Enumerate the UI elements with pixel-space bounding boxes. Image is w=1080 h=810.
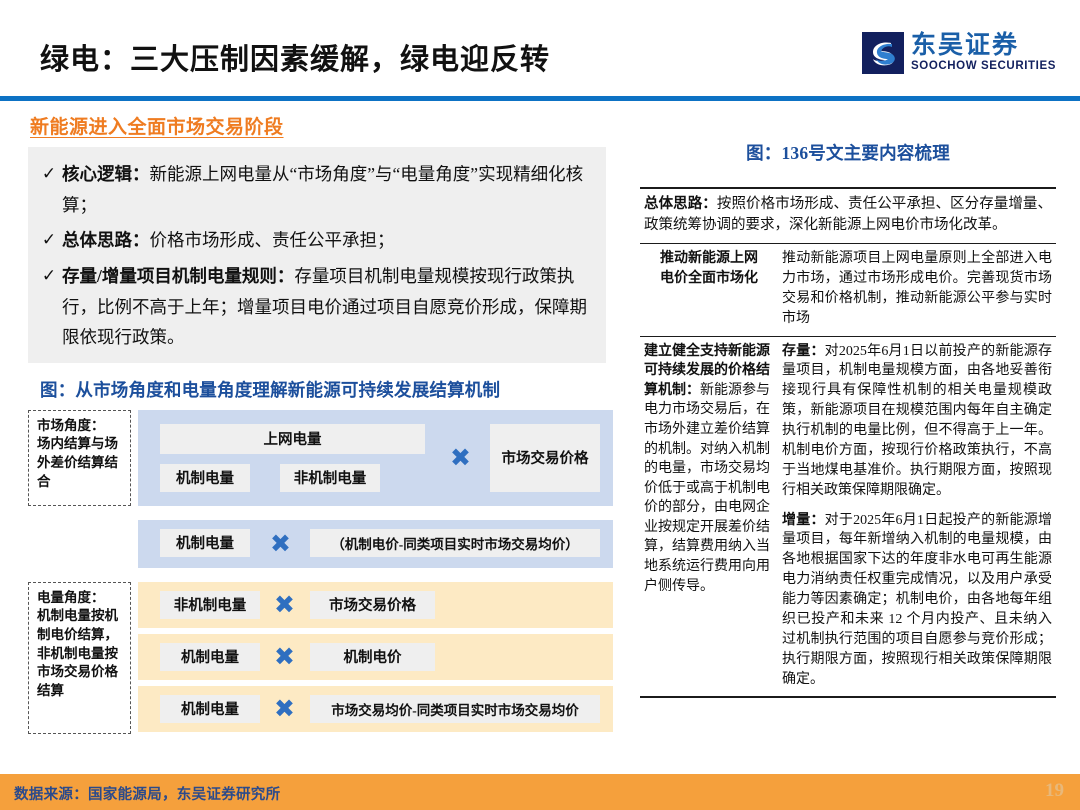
key-points-box: ✓ 核心逻辑：新能源上网电量从“市场角度”与“电量角度”实现精细化核算； ✓ 总…: [28, 147, 606, 363]
row-label-settlement-rest: 新能源参与电力市场交易后，在市场外建立差价结算的机制。对纳入机制的电量，市场交易…: [644, 383, 770, 594]
right-column: 图：136号文主要内容梳理 总体思路：按照价格市场形成、责任公平承担、区分存量增…: [640, 140, 1056, 698]
header-divider: [0, 96, 1080, 101]
stock-label: 存量：: [782, 344, 825, 359]
policy-summary-table: 总体思路：按照价格市场形成、责任公平承担、区分存量增量、政策统筹协调的要求，深化…: [640, 187, 1056, 698]
multiply-icon: ✖: [274, 592, 295, 617]
row-body-settlement: 存量：对2025年6月1日以前投产的新能源存量项目，机制电量规模方面，由各地妥善…: [778, 336, 1056, 697]
chip-price-difference-formula: （机制电价-同类项目实时市场交易均价）: [310, 529, 600, 557]
chip-mechanism-power: 机制电量: [160, 643, 260, 671]
paragraph-stock: 存量：对2025年6月1日以前投产的新能源存量项目，机制电量规模方面，由各地妥善…: [782, 342, 1052, 501]
multiply-icon: ✖: [450, 445, 471, 470]
chip-market-avg-price-formula: 市场交易均价-同类项目实时市场交易均价: [310, 695, 600, 723]
diagram-panel-volume-1: 非机制电量 ✖ 市场交易价格: [138, 582, 613, 628]
logo-text: 东吴证券 SOOCHOW SECURITIES: [911, 32, 1056, 74]
diagram-panel-volume-2: 机制电量 ✖ 机制电价: [138, 634, 613, 680]
check-icon: ✓: [36, 159, 62, 189]
market-angle-note-body: 场内结算与场外差价结算结合: [37, 436, 118, 488]
chip-market-trade-price: 市场交易价格: [310, 591, 435, 619]
overall-approach-label: 总体思路：: [644, 196, 717, 212]
increment-label: 增量：: [782, 513, 825, 528]
table-row: 推动新能源上网 电价全面市场化 推动新能源项目上网电量原则上全部进入电力市场，通…: [640, 244, 1056, 337]
figure-caption-right: 图：136号文主要内容梳理: [640, 140, 1056, 165]
chip-mechanism-power: 机制电量: [160, 464, 250, 492]
increment-text: 对于2025年6月1日起投产的新能源增量项目，每年新增纳入机制的电量规模，由各地…: [782, 513, 1052, 687]
chip-market-trade-price: 市场交易价格: [490, 424, 600, 492]
soochow-logo-icon: [862, 32, 904, 74]
page-number: 19: [1045, 780, 1064, 802]
bullet-text: 总体思路：价格市场形成、责任公平承担；: [62, 225, 596, 256]
bullet-label: 存量/增量项目机制电量规则：: [62, 266, 294, 286]
diagram-panel-volume-3: 机制电量 ✖ 市场交易均价-同类项目实时市场交易均价: [138, 686, 613, 732]
multiply-icon: ✖: [270, 531, 291, 556]
data-source-text: 数据来源：国家能源局，东吴证券研究所: [14, 783, 280, 804]
chip-mechanism-power: 机制电量: [160, 695, 260, 723]
check-icon: ✓: [36, 261, 62, 291]
paragraph-increment: 增量：对于2025年6月1日起投产的新能源增量项目，每年新增纳入机制的电量规模，…: [782, 511, 1052, 690]
paragraph: 推动新能源项目上网电量原则上全部进入电力市场，通过市场形成电价。完善现货市场交易…: [782, 249, 1052, 329]
bullet-item: ✓ 存量/增量项目机制电量规则：存量项目机制电量规模按现行政策执行，比例不高于上…: [36, 261, 596, 353]
check-icon: ✓: [36, 225, 62, 255]
section-heading: 新能源进入全面市场交易阶段: [30, 112, 616, 139]
volume-angle-note-title: 电量角度：: [37, 589, 124, 608]
row-label-marketization: 推动新能源上网 电价全面市场化: [640, 244, 778, 337]
logo-name-en: SOOCHOW SECURITIES: [911, 60, 1056, 74]
overall-approach-cell: 总体思路：按照价格市场形成、责任公平承担、区分存量增量、政策统筹协调的要求，深化…: [640, 188, 1056, 244]
volume-angle-note-body: 机制电量按机制电价结算，非机制电量按市场交易价格结算: [37, 608, 118, 698]
stock-text: 对2025年6月1日以前投产的新能源存量项目，机制电量规模方面，由各地妥善衔接现…: [782, 344, 1052, 498]
chip-mechanism-power: 机制电量: [160, 529, 250, 557]
page-title: 绿电：三大压制因素缓解，绿电迎反转: [40, 36, 550, 78]
left-column: 新能源进入全面市场交易阶段 ✓ 核心逻辑：新能源上网电量从“市场角度”与“电量角…: [28, 112, 616, 740]
table-row: 建立健全支持新能源可持续发展的价格结算机制：新能源参与电力市场交易后，在市场外建…: [640, 336, 1056, 697]
bullet-item: ✓ 总体思路：价格市场形成、责任公平承担；: [36, 225, 596, 256]
bullet-label: 总体思路：: [62, 230, 150, 250]
chip-non-mechanism-power: 非机制电量: [160, 591, 260, 619]
bullet-body: 价格市场形成、责任公平承担；: [150, 230, 395, 250]
slide-footer: 数据来源：国家能源局，东吴证券研究所 19: [0, 774, 1080, 810]
table-row: 总体思路：按照价格市场形成、责任公平承担、区分存量增量、政策统筹协调的要求，深化…: [640, 188, 1056, 244]
market-angle-note-title: 市场角度：: [37, 417, 124, 436]
slide-header: 绿电：三大压制因素缓解，绿电迎反转 东吴证券 SOOCHOW SECURITIE…: [0, 0, 1080, 96]
row-label-line: 电价全面市场化: [644, 269, 774, 289]
bullet-text: 存量/增量项目机制电量规则：存量项目机制电量规模按现行政策执行，比例不高于上年；…: [62, 261, 596, 353]
logo-name-cn: 东吴证券: [911, 32, 1056, 58]
settlement-mechanism-diagram: 市场角度： 场内结算与场外差价结算结合 上网电量 机制电量 非机制电量 ✖ 市场…: [28, 410, 616, 740]
row-body-marketization: 推动新能源项目上网电量原则上全部进入电力市场，通过市场形成电价。完善现货市场交易…: [778, 244, 1056, 337]
volume-angle-note: 电量角度： 机制电量按机制电价结算，非机制电量按市场交易价格结算: [28, 582, 131, 734]
diagram-panel-market-diff: 机制电量 ✖ （机制电价-同类项目实时市场交易均价）: [138, 520, 613, 568]
row-label-settlement: 建立健全支持新能源可持续发展的价格结算机制：新能源参与电力市场交易后，在市场外建…: [640, 336, 778, 697]
chip-non-mechanism-power: 非机制电量: [280, 464, 380, 492]
chip-grid-power: 上网电量: [160, 424, 425, 454]
market-angle-note: 市场角度： 场内结算与场外差价结算结合: [28, 410, 131, 506]
figure-caption-left: 图：从市场角度和电量角度理解新能源可持续发展结算机制: [40, 377, 616, 402]
bullet-text: 核心逻辑：新能源上网电量从“市场角度”与“电量角度”实现精细化核算；: [62, 159, 596, 220]
bullet-item: ✓ 核心逻辑：新能源上网电量从“市场角度”与“电量角度”实现精细化核算；: [36, 159, 596, 220]
slide-root: 绿电：三大压制因素缓解，绿电迎反转 东吴证券 SOOCHOW SECURITIE…: [0, 0, 1080, 810]
chip-mechanism-price: 机制电价: [310, 643, 435, 671]
row-label-line: 推动新能源上网: [644, 249, 774, 269]
brand-logo: 东吴证券 SOOCHOW SECURITIES: [862, 32, 1056, 74]
bullet-label: 核心逻辑：: [62, 164, 150, 184]
multiply-icon: ✖: [274, 644, 295, 669]
multiply-icon: ✖: [274, 696, 295, 721]
diagram-panel-market: 上网电量 机制电量 非机制电量 ✖ 市场交易价格: [138, 410, 613, 506]
